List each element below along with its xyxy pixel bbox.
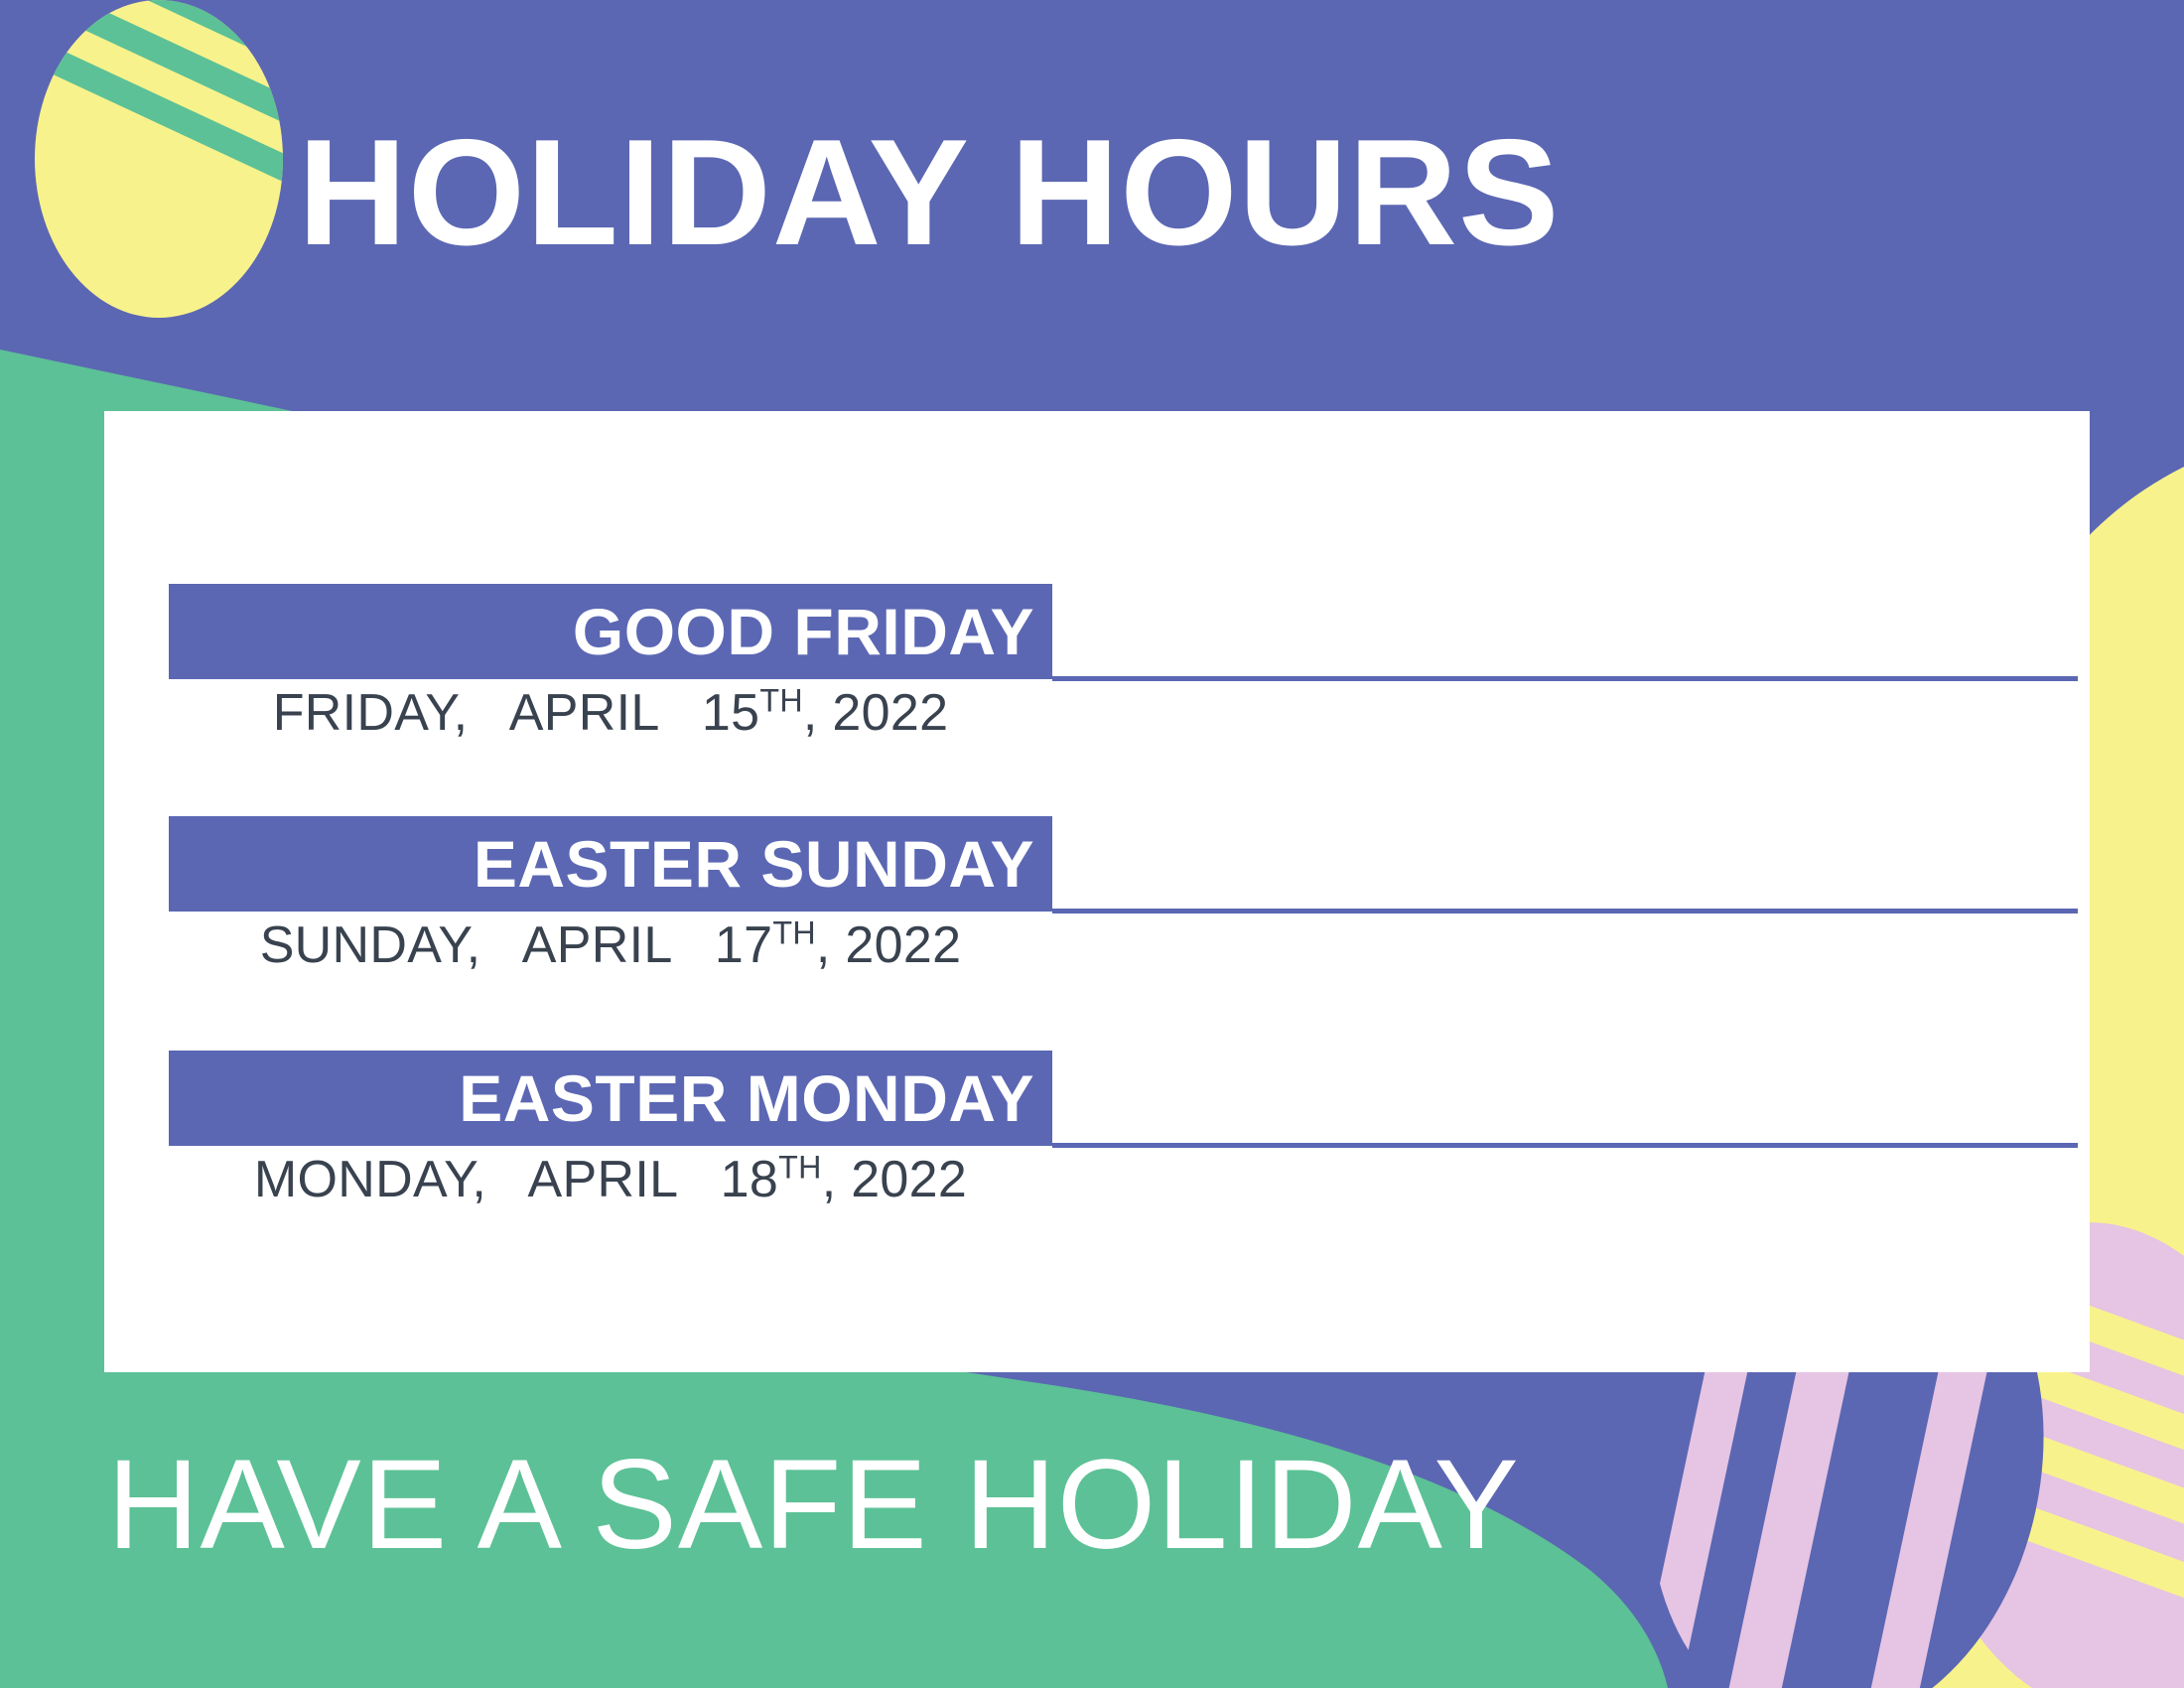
holiday-date-spacer — [482, 684, 497, 742]
holiday-name-label: GOOD FRIDAY — [573, 599, 1034, 664]
hours-write-in-rule[interactable] — [1052, 676, 2078, 681]
holiday-date-ordinal: TH — [778, 1150, 822, 1186]
holiday-date-year: 2022 — [845, 916, 961, 974]
holiday-date-day: 18 — [721, 1151, 778, 1208]
holiday-date-spacer2 — [672, 684, 687, 742]
holiday-date-spacer2 — [685, 916, 700, 974]
holiday-name-label: EASTER SUNDAY — [474, 831, 1034, 897]
holiday-name-label: EASTER MONDAY — [459, 1065, 1034, 1131]
holiday-hours-poster: HOLIDAY HOURS GOOD FRIDAY FRIDAY, APRIL … — [0, 0, 2184, 1688]
holiday-date: MONDAY, APRIL 18TH, 2022 — [169, 1150, 1052, 1209]
holiday-date-day: 17 — [715, 916, 772, 974]
footer-message: HAVE A SAFE HOLIDAY — [107, 1442, 1596, 1569]
holiday-date-month: APRIL — [528, 1151, 677, 1208]
holiday-date: SUNDAY, APRIL 17TH, 2022 — [169, 915, 1052, 975]
holiday-date-comma: , — [816, 916, 846, 974]
hours-write-in-rule[interactable] — [1052, 1143, 2078, 1148]
holiday-date-ordinal: TH — [772, 915, 816, 951]
holiday-date-spacer — [501, 1151, 516, 1208]
holiday-date-month: APRIL — [522, 916, 671, 974]
holiday-date-weekday: MONDAY, — [254, 1151, 486, 1208]
holiday-date-spacer — [495, 916, 510, 974]
holiday-date-comma: , — [803, 684, 833, 742]
holiday-date: FRIDAY, APRIL 15TH, 2022 — [169, 683, 1052, 743]
holiday-name-bar: GOOD FRIDAY — [169, 584, 1052, 679]
holiday-date-weekday: SUNDAY, — [260, 916, 481, 974]
holiday-name-bar: EASTER MONDAY — [169, 1051, 1052, 1146]
holiday-date-month: APRIL — [509, 684, 658, 742]
holiday-date-year: 2022 — [851, 1151, 967, 1208]
holiday-date-day: 15 — [702, 684, 759, 742]
holiday-date-year: 2022 — [832, 684, 948, 742]
holiday-date-spacer2 — [691, 1151, 706, 1208]
holiday-date-comma: , — [822, 1151, 852, 1208]
hours-write-in-rule[interactable] — [1052, 909, 2078, 914]
holiday-date-ordinal: TH — [759, 683, 803, 719]
holiday-date-weekday: FRIDAY, — [273, 684, 469, 742]
holiday-name-bar: EASTER SUNDAY — [169, 816, 1052, 912]
